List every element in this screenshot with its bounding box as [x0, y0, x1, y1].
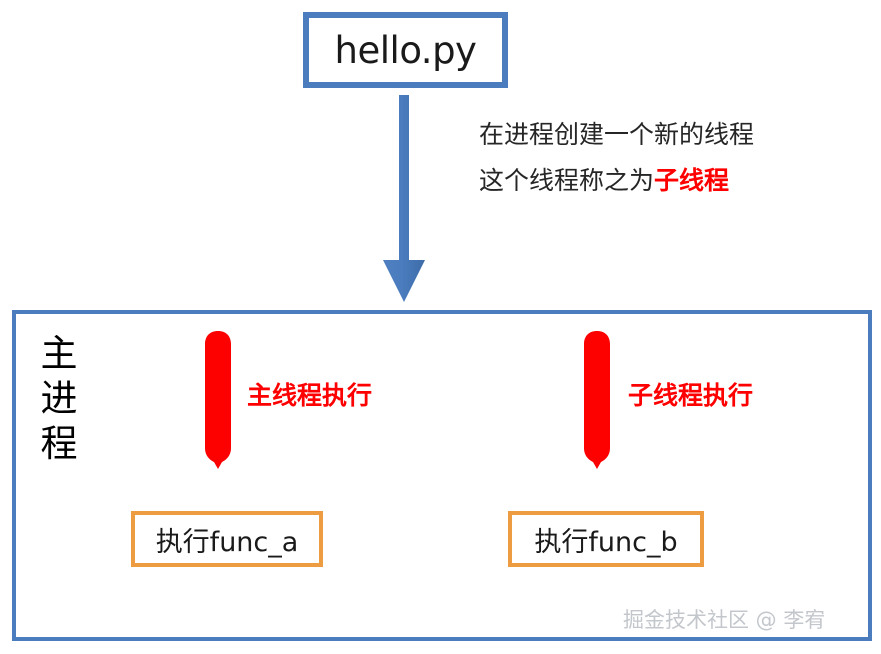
sub-thread-label: 子线程执行 — [628, 376, 753, 412]
func-b-box: 执行func_b — [508, 511, 704, 567]
sub-thread-down-arrow-icon — [581, 330, 613, 470]
diagram-canvas: hello.py 在进程创建一个新的线程 这个线程称之为子线程 主 进 程 — [0, 0, 881, 654]
flow-down-arrow-icon — [378, 95, 430, 307]
main-thread-label: 主线程执行 — [247, 376, 372, 412]
main-process-label-char-2: 进 — [36, 376, 82, 421]
annotation-line-1: 在进程创建一个新的线程 — [479, 112, 859, 158]
main-process-label-char-1: 主 — [36, 331, 82, 376]
func-a-label: 执行func_a — [156, 520, 299, 559]
func-a-box: 执行func_a — [131, 511, 323, 567]
watermark: 掘金技术社区 @ 李宥 — [623, 604, 825, 634]
main-process-container — [12, 310, 872, 641]
main-thread-down-arrow-icon — [202, 330, 234, 470]
file-box: hello.py — [303, 12, 508, 88]
annotation-line-2: 这个线程称之为子线程 — [479, 158, 859, 204]
annotation-line-2-prefix: 这个线程称之为 — [479, 166, 654, 195]
main-process-label-char-3: 程 — [36, 421, 82, 466]
func-b-label: 执行func_b — [534, 520, 677, 559]
annotation-highlight: 子线程 — [654, 166, 729, 195]
annotation-text: 在进程创建一个新的线程 这个线程称之为子线程 — [479, 112, 859, 204]
main-process-label: 主 进 程 — [36, 331, 82, 466]
file-box-label: hello.py — [335, 32, 477, 69]
